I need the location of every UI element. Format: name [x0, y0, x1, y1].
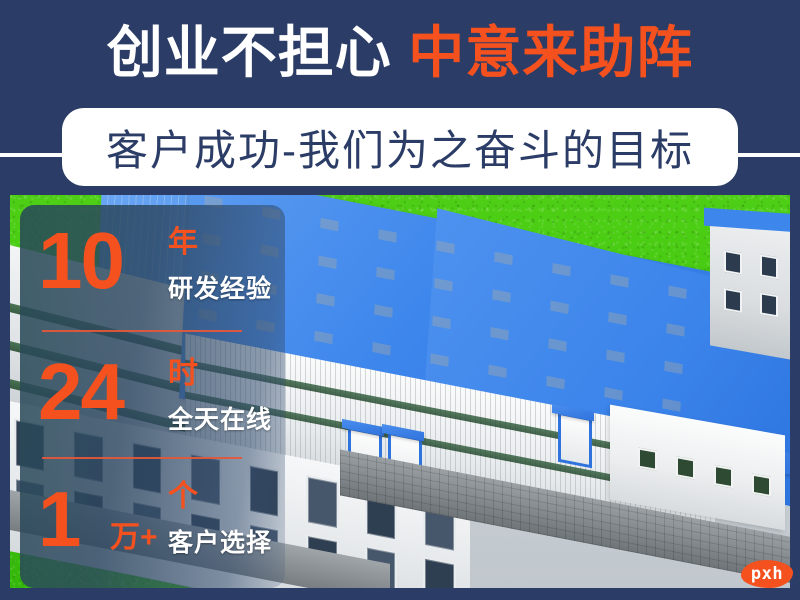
window — [676, 456, 695, 479]
stat-number: 1 — [38, 477, 79, 561]
right-office-building — [710, 215, 790, 360]
stat-suffix: 万+ — [110, 525, 158, 551]
window — [306, 475, 338, 530]
headline-primary: 创业不担心 — [107, 21, 392, 84]
window — [423, 557, 455, 588]
window — [638, 448, 657, 471]
promo-banner: 创业不担心 中意来助阵 客户成功-我们为之奋斗的目标 — [0, 0, 800, 600]
frame-right — [790, 195, 800, 600]
stat-unit: 个 — [168, 481, 198, 513]
banner-header: 创业不担心 中意来助阵 客户成功-我们为之奋斗的目标 — [0, 0, 800, 195]
dock-door — [558, 412, 592, 469]
stat-divider — [42, 330, 242, 332]
stat-number: 24 — [38, 350, 123, 434]
window — [724, 288, 742, 313]
stats-panel: 10 年 研发经验 24 时 全天在线 1 万+ 个 客户选择 — [20, 205, 285, 588]
headline-accent: 中意来助阵 — [408, 21, 693, 84]
window — [714, 465, 733, 488]
window — [760, 292, 778, 317]
stat-divider — [42, 457, 242, 459]
window — [724, 250, 742, 275]
window — [760, 254, 778, 279]
pxh-badge-label: pxh — [751, 564, 783, 584]
stat-description: 研发经验 — [168, 275, 272, 303]
stat-description: 客户选择 — [168, 529, 272, 557]
subtitle-pill: 客户成功-我们为之奋斗的目标 — [62, 108, 738, 186]
pxh-badge: pxh — [741, 560, 793, 588]
stat-unit: 年 — [168, 227, 198, 259]
frame-bottom — [0, 588, 800, 600]
stat-description: 全天在线 — [168, 406, 272, 434]
stat-unit: 时 — [168, 358, 198, 390]
headline: 创业不担心 中意来助阵 — [0, 22, 800, 84]
subtitle-text: 客户成功-我们为之奋斗的目标 — [106, 117, 694, 178]
stat-number: 10 — [38, 219, 123, 303]
window — [752, 474, 771, 497]
frame-left — [0, 195, 10, 600]
